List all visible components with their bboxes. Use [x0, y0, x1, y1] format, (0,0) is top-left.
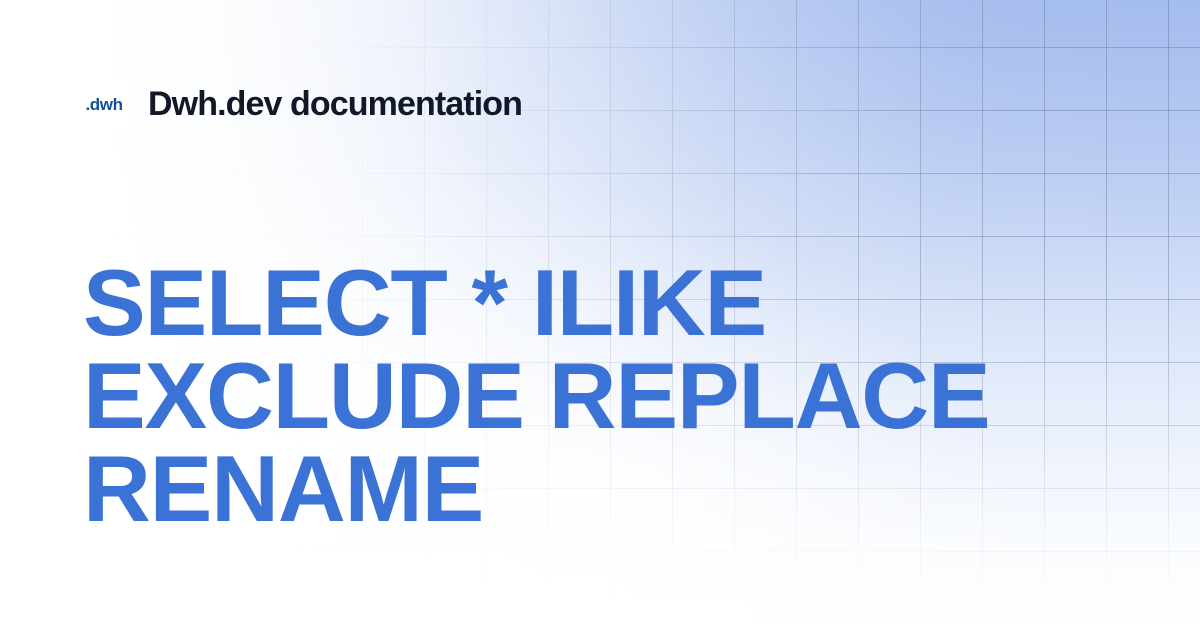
page-title: Dwh.dev documentation [148, 87, 522, 121]
card-content: .dwh Dwh.dev documentation SELECT * ILIK… [0, 0, 1200, 630]
headline-text: SELECT * ILIKE EXCLUDE REPLACE RENAME [83, 256, 1093, 535]
dwh-logo-icon: .dwh [80, 80, 128, 128]
social-card-canvas: .dwh Dwh.dev documentation SELECT * ILIK… [0, 0, 1200, 630]
brand-header: .dwh Dwh.dev documentation [80, 80, 522, 128]
dwh-logo-label: .dwh [85, 96, 122, 113]
